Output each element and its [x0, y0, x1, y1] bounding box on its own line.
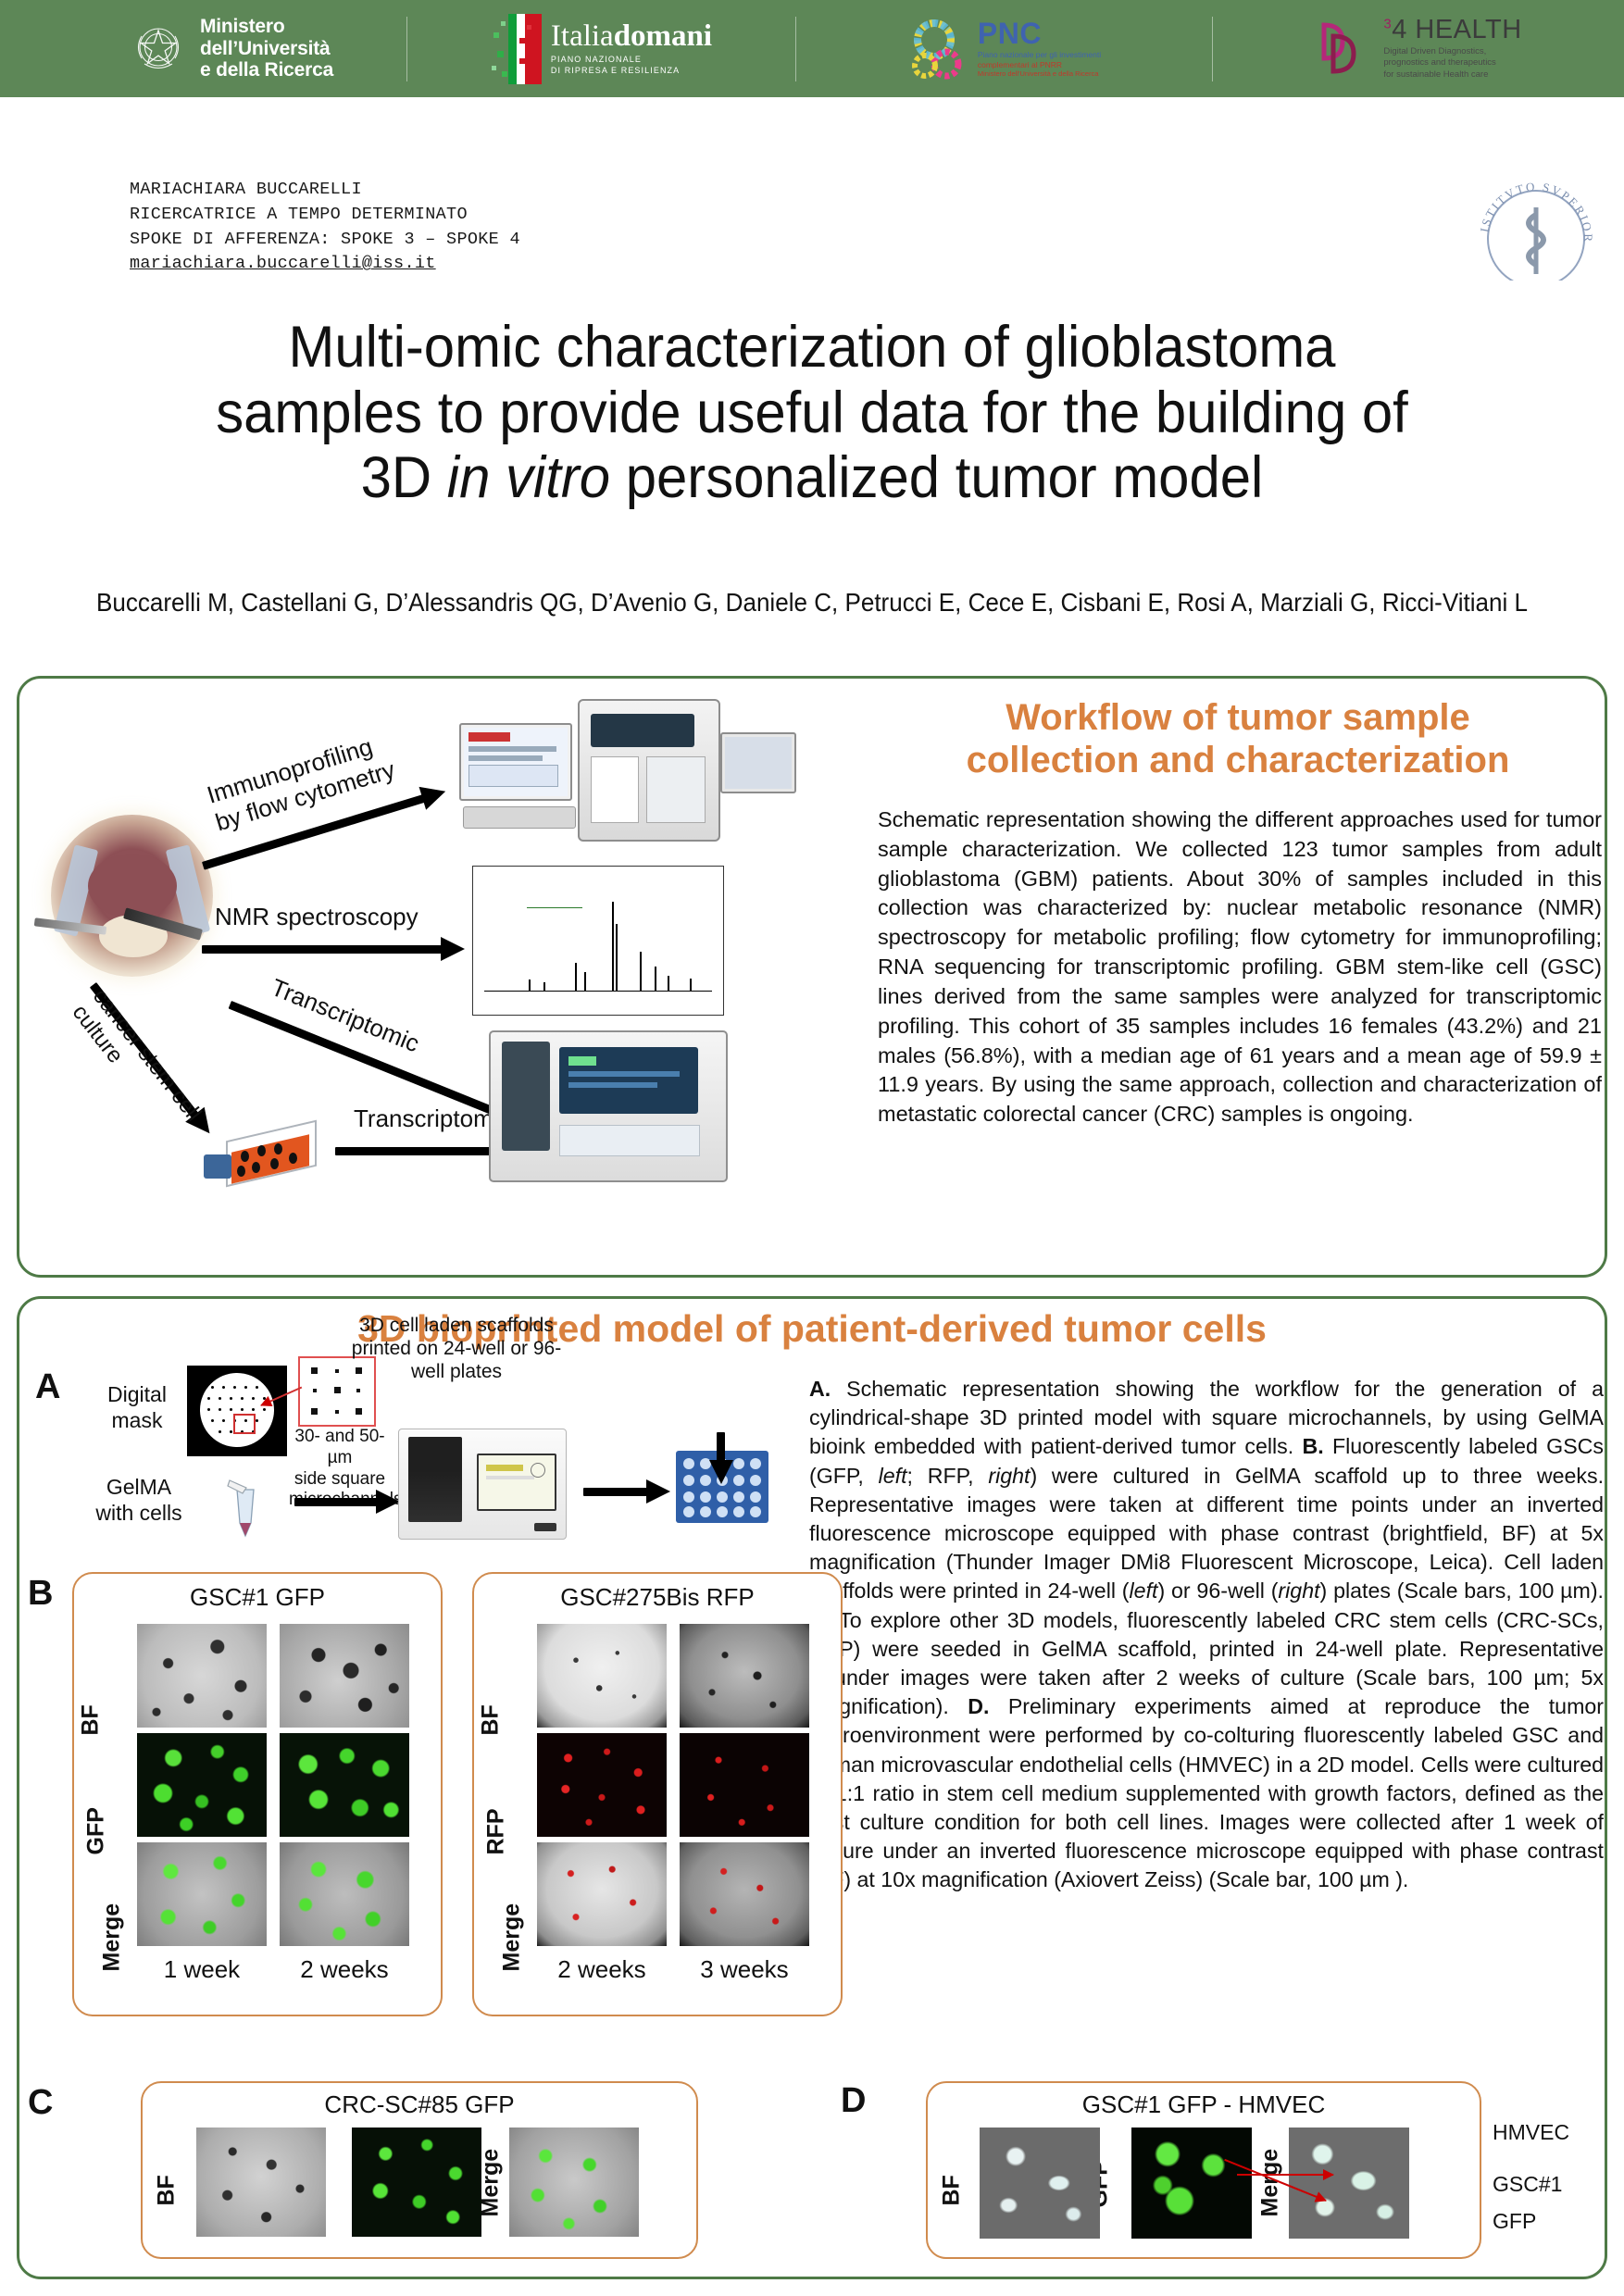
bioprinter-image — [398, 1429, 567, 1540]
ministero-line3: e della Ricerca — [200, 59, 333, 81]
title-line3: 3D in vitro personalized tumor model — [41, 445, 1583, 511]
label-transcriptomic-top: Transcriptomic — [267, 973, 423, 1058]
timepoint-2weeks: 2 weeks — [270, 1955, 418, 1984]
section-a-workflow: A Digital mask GelMA with cells — [28, 1347, 806, 1551]
image-gsc1-bf-2weeks — [280, 1624, 409, 1728]
section-a-letter: A — [35, 1367, 60, 1407]
image-gsc1-gfp-2weeks — [280, 1733, 409, 1837]
label-digital-mask: Digital mask — [72, 1382, 202, 1433]
image-hmvec-bf — [980, 2128, 1100, 2239]
domani-word: domani — [614, 19, 712, 53]
workflow-diagram: Immunoprofiling by flow cytometry NMR sp… — [28, 690, 870, 1264]
contact-name: MARIACHIARA BUCCARELLI — [130, 178, 520, 203]
sequencer-equipment — [489, 1030, 728, 1182]
nmr-spectrum-plot — [472, 866, 724, 1016]
annotation-gfp: GFP — [1493, 2209, 1536, 2234]
image-gsc275-rfp-2weeks — [537, 1733, 667, 1837]
row-label-bf: BF — [78, 1680, 105, 1736]
pnc-sub3: Ministero dell'Università e della Ricerc… — [978, 69, 1101, 78]
section-c-letter: C — [28, 2083, 53, 2123]
col-label-bf-c: BF — [154, 2151, 181, 2206]
image-hmvec-merge — [1289, 2128, 1409, 2239]
row-label-gfp: GFP — [83, 1792, 110, 1855]
image-gsc275-bf-3weeks — [680, 1624, 809, 1728]
card-title-gsc275bis: GSC#275Bis RFP — [474, 1583, 841, 1612]
contact-spoke: SPOKE DI AFFERENZA: SPOKE 3 – SPOKE 4 — [130, 228, 520, 253]
italiadomani-sub2: DI RIPRESA E RESILIENZA — [551, 66, 712, 76]
image-gsc275-bf-2weeks — [537, 1624, 667, 1728]
image-gsc275-rfp-3weeks — [680, 1733, 809, 1837]
d34-superscript: 3 — [1383, 17, 1392, 32]
flow-cytometry-equipment — [459, 699, 811, 856]
culture-flask-icon — [204, 1125, 324, 1192]
card-title-crc-sc85: CRC-SC#85 GFP — [143, 2090, 696, 2119]
section-b-letter: B — [28, 1574, 53, 1614]
card-gsc275bis-rfp: GSC#275Bis RFP BF RFP Merge 2 weeks 3 we… — [472, 1572, 843, 2016]
gears-icon — [908, 14, 969, 84]
d34-monogram-icon — [1315, 14, 1378, 84]
arrow-down-to-plate — [692, 1432, 725, 1460]
pnc-sub2: complementari al PNRR — [978, 60, 1101, 70]
title-line1: Multi-omic characterization of glioblast… — [41, 315, 1583, 381]
card-crc-sc85-gfp: CRC-SC#85 GFP BF GFP Merge — [141, 2081, 698, 2259]
card-title-gsc1: GSC#1 GFP — [74, 1583, 441, 1612]
logo-italiadomani: Italiadomani PIANO NAZIONALE DI RIPRESA … — [407, 0, 796, 97]
row-label-merge-2: Merge — [499, 1889, 526, 1972]
contact-role: RICERCATRICE A TEMPO DETERMINATO — [130, 203, 520, 228]
image-crc-merge — [509, 2128, 639, 2237]
annotation-gsc1: GSC#1 — [1493, 2172, 1562, 2197]
italiadomani-sub1: PIANO NAZIONALE — [551, 55, 712, 65]
col-label-bf-d: BF — [939, 2151, 966, 2206]
iss-logo-icon: ISTITVTO SVPERIORE DI SANITÀ — [1471, 174, 1601, 281]
image-gsc1-gfp-1week — [137, 1733, 267, 1837]
timepoint-3weeks: 3 weeks — [670, 1955, 818, 1984]
tag-b: B. — [1303, 1434, 1324, 1458]
image-gsc275-merge-2weeks — [537, 1842, 667, 1946]
card-gsc1-gfp: GSC#1 GFP BF GFP Merge 1 week 2 weeks — [72, 1572, 443, 2016]
timepoint-2weeks-b: 2 weeks — [528, 1955, 676, 1984]
svg-text:ISTITVTO SVPERIORE DI SANITÀ: ISTITVTO SVPERIORE DI SANITÀ — [1471, 174, 1595, 243]
header-band: Ministero dell’Università e della Ricerc… — [0, 0, 1624, 97]
d34-sub3: for sustainable Health care — [1383, 69, 1521, 81]
title-line2: samples to provide useful data for the b… — [41, 381, 1583, 446]
row-label-rfp: RFP — [483, 1792, 510, 1855]
label-gelma-with-cells: GelMA with cells — [65, 1475, 213, 1526]
d34-sub1: Digital Driven Diagnostics, — [1383, 46, 1521, 57]
panel1-heading: Workflow of tumor sample collection and … — [881, 696, 1594, 781]
tag-a: A. — [809, 1377, 831, 1401]
image-crc-gfp — [352, 2128, 481, 2237]
label-3d-scaffolds: 3D cell laden scaffolds printed on 24-we… — [350, 1314, 563, 1384]
image-crc-bf — [196, 2128, 326, 2237]
card-gsc1-hmvec: GSC#1 GFP - HMVEC BF GFP Merge — [926, 2081, 1481, 2259]
tag-d: D. — [968, 1694, 989, 1718]
author-list: Buccarelli M, Castellani G, D’Alessandri… — [56, 585, 1567, 620]
annotation-hmvec: HMVEC — [1493, 2120, 1569, 2145]
panel1-heading-line2: collection and characterization — [881, 739, 1594, 781]
panel2-body-text: A. Schematic representation showing the … — [809, 1375, 1604, 1895]
pnc-acronym: PNC — [978, 19, 1101, 48]
italiadomani-wordmark: Italiadomani PIANO NAZIONALE DI RIPRESA … — [551, 21, 712, 76]
ministero-line1: Ministero — [200, 16, 333, 38]
logo-d34health: 34 HEALTH Digital Driven Diagnostics, pr… — [1213, 0, 1624, 97]
row-label-merge: Merge — [99, 1889, 126, 1972]
card-title-gsc1-hmvec: GSC#1 GFP - HMVEC — [928, 2090, 1480, 2119]
title-italic-invitro: in vitro — [447, 445, 610, 510]
row-label-bf-2: BF — [478, 1680, 505, 1736]
digital-mask-image — [187, 1366, 287, 1456]
label-transcriptomic-bottom: Transcriptomic — [354, 1104, 511, 1133]
contact-email[interactable]: mariachiara.buccarelli@iss.it — [130, 252, 520, 277]
image-gsc275-merge-3weeks — [680, 1842, 809, 1946]
brain-surgery-illustration — [51, 815, 213, 977]
image-gsc1-merge-1week — [137, 1842, 267, 1946]
d34-sub2: prognostics and therapeutics — [1383, 57, 1521, 69]
image-gsc1-bf-1week — [137, 1624, 267, 1728]
arrow-hmvec-annotation — [1237, 2174, 1333, 2176]
d34-title: 4 HEALTH — [1392, 15, 1521, 44]
image-gsc1-merge-2weeks — [280, 1842, 409, 1946]
label-culture: cancer stem cell culture — [67, 984, 206, 1142]
italian-republic-emblem-icon — [130, 16, 187, 81]
logo-pnc: PNC Piano nazionale per gli investimenti… — [796, 0, 1213, 97]
label-immunoprofiling: Immunoprofiling by flow cytometry — [204, 728, 398, 837]
label-nmr-spectroscopy: NMR spectroscopy — [215, 903, 418, 931]
logo-ministero-universita-ricerca: Ministero dell’Università e della Ricerc… — [0, 0, 407, 97]
author-contact-block: MARIACHIARA BUCCARELLI RICERCATRICE A TE… — [130, 178, 520, 277]
ministero-line2: dell’Università — [200, 38, 333, 60]
panel1-heading-line1: Workflow of tumor sample — [881, 696, 1594, 739]
italian-flag-pixels-icon — [492, 14, 542, 84]
section-d-letter: D — [841, 2081, 866, 2121]
ministero-label: Ministero dell’Università e della Ricerc… — [200, 16, 333, 81]
image-hmvec-gfp — [1131, 2128, 1252, 2239]
timepoint-1week: 1 week — [128, 1955, 276, 1984]
pipette-tube-icon — [222, 1477, 269, 1541]
panel1-body-text: Schematic representation showing the dif… — [878, 805, 1602, 1129]
page-title: Multi-omic characterization of glioblast… — [41, 315, 1583, 511]
pnc-sub1: Piano nazionale per gli investimenti — [978, 50, 1101, 60]
panel2-heading: 3D bioprinted model of patient-derived t… — [17, 1307, 1607, 1351]
italia-word: Italia — [551, 19, 614, 53]
